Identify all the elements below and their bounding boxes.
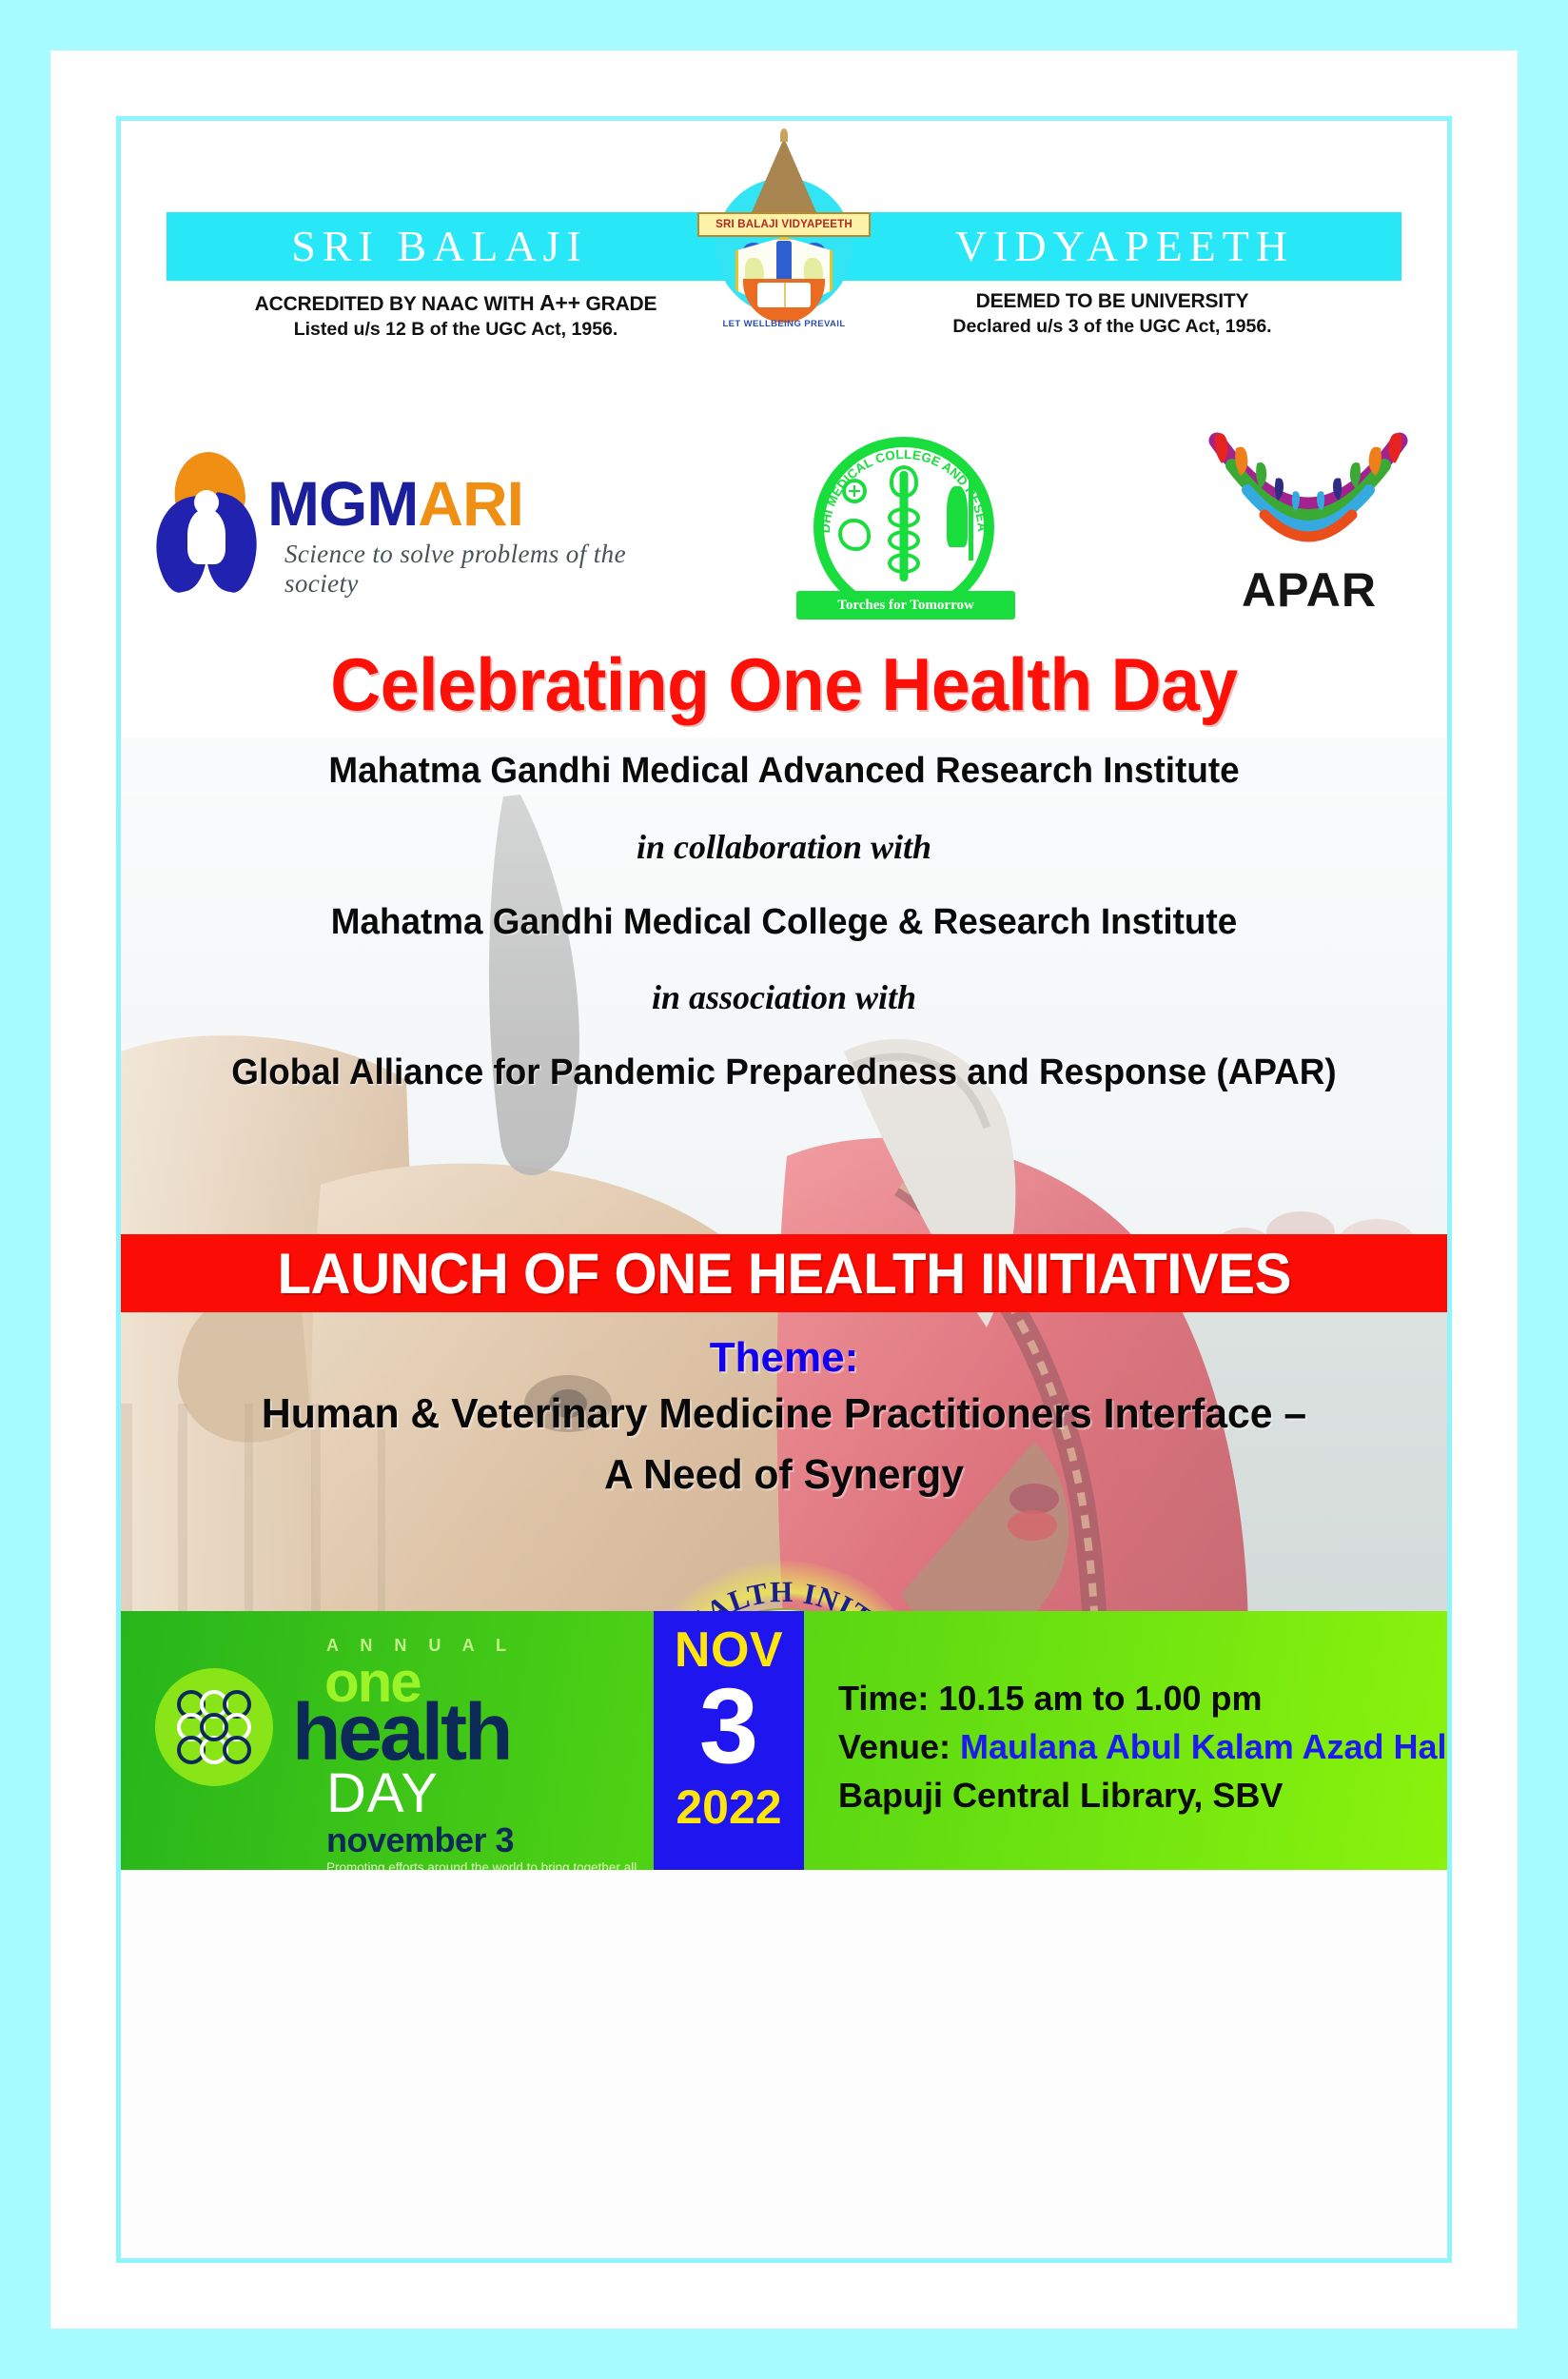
mgmari-tagline: Science to solve problems of the society <box>284 540 656 599</box>
sbv-gopuram-finial <box>780 128 788 142</box>
mgmari-person-body-icon <box>187 509 225 564</box>
poster-inner-border: SRI BALAJI VIDYAPEETH ACCREDITED BY NAAC… <box>116 116 1452 2263</box>
ugc-12b-line: Listed u/s 12 B of the UGC Act, 1956. <box>167 318 745 343</box>
naac-grade-line: ACCREDITED BY NAAC WITH A++ GRADE <box>167 288 745 318</box>
sbv-book-icon <box>757 283 811 307</box>
ohd-text-block: A N N U A L one health DAY november 3 Pr… <box>292 1636 640 1870</box>
poster-title: Celebrating One Health Day <box>161 635 1407 734</box>
event-day: 3 <box>654 1673 804 1779</box>
organizer-line-3: Global Alliance for Pandemic Preparednes… <box>141 1051 1427 1096</box>
mgmari-wordmark: MGMARI <box>267 467 523 540</box>
partner-logo-row: MGMARI Science to solve problems of the … <box>121 435 1447 635</box>
university-header: SRI BALAJI VIDYAPEETH ACCREDITED BY NAAC… <box>121 121 1447 435</box>
mgmcri-coil-2-icon <box>888 530 920 551</box>
theme-line-1: Human & Veterinary Medicine Practitioner… <box>141 1384 1427 1445</box>
event-year: 2022 <box>654 1781 804 1834</box>
organizer-connector-2: in association with <box>121 977 1447 1018</box>
apar-logo: APAR <box>1200 427 1419 618</box>
ohd-november-label: november 3 <box>326 1821 640 1859</box>
time-value: 10.15 am to 1.00 pm <box>938 1679 1262 1718</box>
organizer-line-2: Mahatma Gandhi Medical College & Researc… <box>141 900 1427 946</box>
event-time-line: Time: 10.15 am to 1.00 pm <box>838 1674 1447 1722</box>
launch-banner-text: LAUNCH OF ONE HEALTH INITIATIVES <box>277 1241 1290 1307</box>
sbv-motto-label: LET WELLBEING PREVAIL <box>694 319 874 329</box>
band-left: SRI BALAJI <box>167 212 745 281</box>
poster-photo-body: Mahatma Gandhi Medical Advanced Research… <box>121 737 1447 1870</box>
mgmcri-gandhi-figure-icon <box>947 486 968 547</box>
band-right: VIDYAPEETH <box>823 212 1401 281</box>
organizers-block: Mahatma Gandhi Medical Advanced Research… <box>121 749 1447 1096</box>
event-details-bar: A N N U A L one health DAY november 3 Pr… <box>121 1611 1447 1870</box>
university-name-left: SRI BALAJI <box>167 212 745 281</box>
venue-value: Maulana Abul Kalam Azad Hall, <box>960 1727 1447 1766</box>
mgmari-word-blue: MGM <box>267 468 418 539</box>
event-venue-line-2: Bapuji Central Library, SBV <box>838 1771 1447 1819</box>
ohd-fine-print-line-1: Promoting efforts around the world to br… <box>326 1860 620 1870</box>
theme-line-2: A Need of Synergy <box>141 1445 1427 1505</box>
poster-title-section: Celebrating One Health Day <box>121 635 1447 737</box>
deemed-university-line: DEEMED TO BE UNIVERSITY <box>823 288 1401 315</box>
ohd-dots-icon <box>155 1668 273 1786</box>
mgmcri-staff-pole-icon <box>969 479 973 560</box>
venue-label: Venue: <box>838 1727 960 1766</box>
mgmcri-coil-3-icon <box>888 553 920 574</box>
mgmari-word-orange: ARI <box>418 468 523 539</box>
event-venue-line: Venue: Maulana Abul Kalam Azad Hall, <box>838 1722 1447 1771</box>
poster-content: SRI BALAJI VIDYAPEETH ACCREDITED BY NAAC… <box>121 121 1447 2258</box>
mgmcri-motto-banner: Torches for Tomorrow <box>796 591 1015 619</box>
ohd-fine-print: Promoting efforts around the world to br… <box>326 1860 640 1870</box>
sbv-emblem-icon: SRI BALAJI VIDYAPEETH LET WELLBEING PREV… <box>694 138 874 343</box>
organizer-connector-1: in collaboration with <box>121 827 1447 868</box>
accreditation-left: ACCREDITED BY NAAC WITH A++ GRADE Listed… <box>167 288 745 342</box>
mgmcri-logo: MAHATMA GANDHI MEDICAL COLLEGE AND RESEA… <box>796 437 1015 618</box>
event-time-venue: Time: 10.15 am to 1.00 pm Venue: Maulana… <box>804 1611 1447 1870</box>
theme-label: Theme: <box>121 1333 1447 1384</box>
sbv-gopuram-icon <box>752 138 816 212</box>
organizer-line-1: Mahatma Gandhi Medical Advanced Research… <box>141 749 1427 795</box>
launch-banner: LAUNCH OF ONE HEALTH INITIATIVES <box>121 1234 1447 1312</box>
ohd-health-label: health <box>292 1699 640 1766</box>
event-date-box: NOV 3 2022 <box>654 1611 804 1870</box>
poster: SRI BALAJI VIDYAPEETH ACCREDITED BY NAAC… <box>0 0 1568 2379</box>
mgmcri-coil-1-icon <box>888 507 920 528</box>
sbv-ribbon-label: SRI BALAJI VIDYAPEETH <box>697 212 871 237</box>
apar-wordmark: APAR <box>1200 562 1419 618</box>
university-name-right: VIDYAPEETH <box>823 212 1401 281</box>
mgmcri-cross-icon <box>842 479 867 503</box>
mgmari-logo: MGMARI Science to solve problems of the … <box>151 448 656 591</box>
one-health-day-logo: A N N U A L one health DAY november 3 Pr… <box>121 1611 654 1870</box>
mgmari-mark-icon <box>151 452 262 591</box>
theme-block: Theme: Human & Veterinary Medicine Pract… <box>121 1333 1447 1504</box>
apar-fan-icon <box>1207 427 1409 560</box>
time-label: Time: <box>838 1679 938 1718</box>
mgmcri-heart-icon <box>838 519 871 551</box>
ugc-3-line: Declared u/s 3 of the UGC Act, 1956. <box>823 315 1401 340</box>
accreditation-right: DEEMED TO BE UNIVERSITY Declared u/s 3 o… <box>823 288 1401 339</box>
sbv-caduceus-icon <box>776 241 792 283</box>
